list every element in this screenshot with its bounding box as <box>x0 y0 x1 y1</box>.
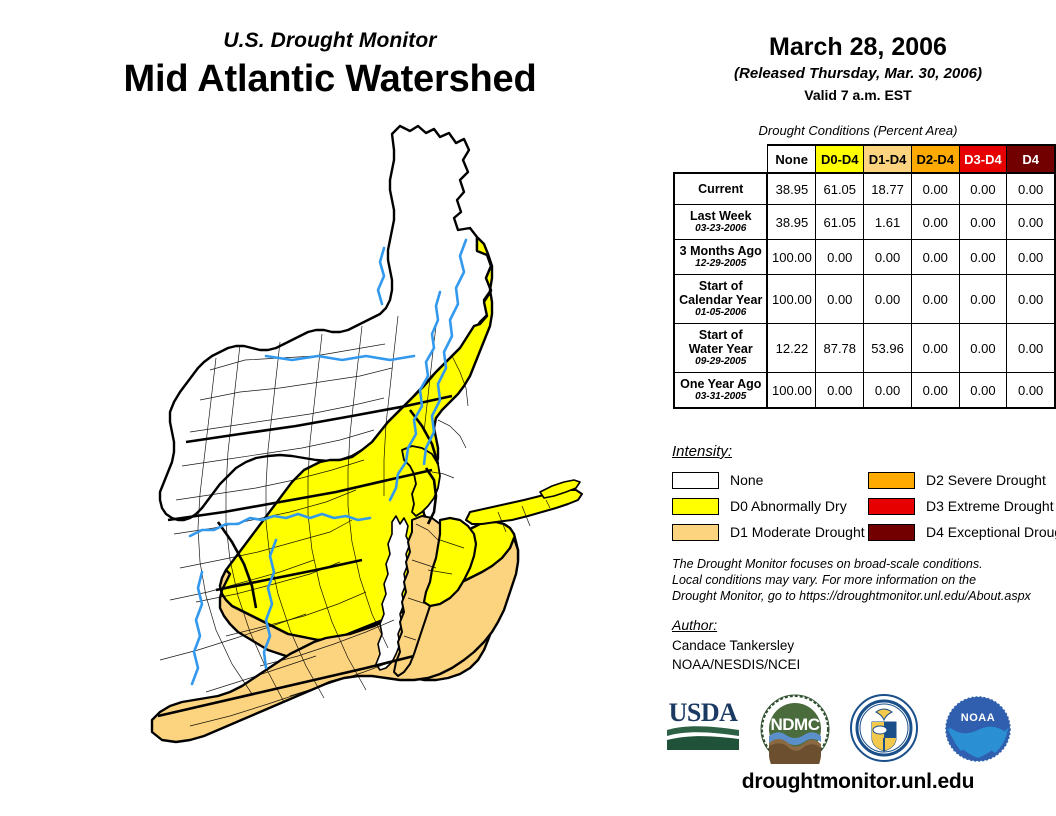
drought-map[interactable] <box>40 120 660 800</box>
row-label-date: 03-31-2005 <box>677 391 764 403</box>
page-title: Mid Atlantic Watershed <box>0 56 660 102</box>
table-cell: 18.77 <box>864 173 912 205</box>
row-label-date: 12-29-2005 <box>677 258 764 270</box>
legend-swatch <box>672 498 719 515</box>
table-row: Start ofWater Year09-29-200512.2287.7853… <box>674 324 1055 373</box>
legend-swatch <box>672 472 719 489</box>
row-label-date: 01-05-2006 <box>677 307 764 319</box>
noaa-logo: NOAA <box>943 694 1013 764</box>
table-cell: 0.00 <box>1007 173 1055 205</box>
row-label-line: Water Year <box>677 342 764 356</box>
table-cell: 0.00 <box>864 240 912 275</box>
table-cell: 0.00 <box>959 173 1007 205</box>
table-cell: 0.00 <box>1007 373 1055 409</box>
row-label-line: Start of <box>677 279 764 293</box>
logo-row: USDA NDMC NOAA <box>665 694 1055 766</box>
intensity-legend-left: NoneD0 Abnormally DryD1 Moderate Drought <box>672 468 865 546</box>
row-label-date: 09-29-2005 <box>677 356 764 368</box>
row-label-line: Calendar Year <box>677 293 764 307</box>
table-cell: 0.00 <box>911 173 959 205</box>
legend-item: None <box>672 468 865 492</box>
valid-time: Valid 7 a.m. EST <box>660 85 1056 105</box>
legend-swatch <box>868 472 915 489</box>
valid-date: March 28, 2006 <box>660 32 1056 62</box>
table-cell: 0.00 <box>911 240 959 275</box>
table-cell: 61.05 <box>816 173 864 205</box>
table-col-header-none: None <box>767 145 815 173</box>
legend-label: D4 Exceptional Drought <box>926 524 1056 540</box>
table-row: Current38.9561.0518.770.000.000.00 <box>674 173 1055 205</box>
table-cell: 0.00 <box>911 373 959 409</box>
table-cell: 100.00 <box>767 373 815 409</box>
author-block: Candace Tankersley NOAA/NESDIS/NCEI <box>672 636 800 674</box>
legend-label: None <box>730 472 763 488</box>
table-cell: 0.00 <box>1007 205 1055 240</box>
svg-text:NDMC: NDMC <box>771 715 820 734</box>
row-label-line: 3 Months Ago <box>677 244 764 258</box>
doc-logo <box>850 694 918 762</box>
table-cell: 0.00 <box>911 324 959 373</box>
table-row-label: Start ofCalendar Year01-05-2006 <box>674 275 767 324</box>
legend-item: D2 Severe Drought <box>868 468 1056 492</box>
legend-label: D3 Extreme Drought <box>926 498 1054 514</box>
legend-item: D4 Exceptional Drought <box>868 520 1056 544</box>
table-col-header-d1-d4: D1-D4 <box>864 145 912 173</box>
table-row: Start ofCalendar Year01-05-2006100.000.0… <box>674 275 1055 324</box>
legend-label: D1 Moderate Drought <box>730 524 865 540</box>
table-row: 3 Months Ago12-29-2005100.000.000.000.00… <box>674 240 1055 275</box>
row-label-line: One Year Ago <box>677 377 764 391</box>
disclaimer-line: The Drought Monitor focuses on broad-sca… <box>672 556 1052 572</box>
table-col-header-d0-d4: D0-D4 <box>816 145 864 173</box>
table-header-row: NoneD0-D4D1-D4D2-D4D3-D4D4 <box>674 145 1055 173</box>
disclaimer-text: The Drought Monitor focuses on broad-sca… <box>672 556 1052 604</box>
intensity-legend-title: Intensity: <box>672 443 732 460</box>
legend-item: D0 Abnormally Dry <box>672 494 865 518</box>
table-cell: 0.00 <box>1007 275 1055 324</box>
table-cell: 53.96 <box>864 324 912 373</box>
table-row-label: Start ofWater Year09-29-2005 <box>674 324 767 373</box>
usda-logo: USDA <box>665 694 741 752</box>
table-cell: 0.00 <box>959 240 1007 275</box>
legend-item: D3 Extreme Drought <box>868 494 1056 518</box>
ndmc-logo: NDMC <box>760 694 830 764</box>
intensity-legend-right: D2 Severe DroughtD3 Extreme DroughtD4 Ex… <box>868 468 1056 546</box>
table-cell: 87.78 <box>816 324 864 373</box>
table-cell: 0.00 <box>816 373 864 409</box>
disclaimer-line: Drought Monitor, go to https://droughtmo… <box>672 588 1052 604</box>
table-cell: 0.00 <box>959 324 1007 373</box>
legend-item: D1 Moderate Drought <box>672 520 865 544</box>
row-label-line: Last Week <box>677 209 764 223</box>
row-label-line: Start of <box>677 328 764 342</box>
row-label-line: Current <box>677 182 764 196</box>
table-cell: 0.00 <box>1007 324 1055 373</box>
legend-label: D0 Abnormally Dry <box>730 498 847 514</box>
table-row: Last Week03-23-200638.9561.051.610.000.0… <box>674 205 1055 240</box>
table-row-label: Last Week03-23-2006 <box>674 205 767 240</box>
table-cell: 0.00 <box>959 373 1007 409</box>
table-cell: 1.61 <box>864 205 912 240</box>
table-cell: 0.00 <box>816 275 864 324</box>
table-cell: 61.05 <box>816 205 864 240</box>
table-row-label: 3 Months Ago12-29-2005 <box>674 240 767 275</box>
drought-conditions-table: NoneD0-D4D1-D4D2-D4D3-D4D4 Current38.956… <box>673 144 1056 409</box>
table-col-header-d3-d4: D3-D4 <box>959 145 1007 173</box>
table-cell: 0.00 <box>911 205 959 240</box>
author-label: Author: <box>672 617 717 633</box>
table-row-label: Current <box>674 173 767 205</box>
release-date: (Released Thursday, Mar. 30, 2006) <box>660 63 1056 84</box>
site-url: droughtmonitor.unl.edu <box>660 770 1056 794</box>
table-cell: 0.00 <box>864 275 912 324</box>
date-block: March 28, 2006 (Released Thursday, Mar. … <box>660 32 1056 105</box>
table-cell: 38.95 <box>767 173 815 205</box>
table-cell: 0.00 <box>959 275 1007 324</box>
table-col-header-d4: D4 <box>1007 145 1055 173</box>
svg-text:USDA: USDA <box>669 698 739 727</box>
program-title: U.S. Drought Monitor <box>0 28 660 54</box>
drought-map-svg[interactable] <box>40 120 660 800</box>
legend-swatch <box>868 524 915 541</box>
table-cell: 0.00 <box>1007 240 1055 275</box>
author-affiliation: NOAA/NESDIS/NCEI <box>672 655 800 674</box>
row-label-date: 03-23-2006 <box>677 223 764 235</box>
legend-swatch <box>868 498 915 515</box>
table-cell: 12.22 <box>767 324 815 373</box>
table-col-header-d2-d4: D2-D4 <box>911 145 959 173</box>
svg-text:NOAA: NOAA <box>961 712 995 724</box>
table-caption: Drought Conditions (Percent Area) <box>660 123 1056 138</box>
table-body: Current38.9561.0518.770.000.000.00Last W… <box>674 173 1055 408</box>
table-row-label: One Year Ago03-31-2005 <box>674 373 767 409</box>
disclaimer-line: Local conditions may vary. For more info… <box>672 572 1052 588</box>
table-cell: 0.00 <box>816 240 864 275</box>
table-cell: 0.00 <box>864 373 912 409</box>
legend-label: D2 Severe Drought <box>926 472 1046 488</box>
title-block: U.S. Drought Monitor Mid Atlantic Waters… <box>0 28 660 102</box>
table-cell: 0.00 <box>959 205 1007 240</box>
legend-swatch <box>672 524 719 541</box>
table-row: One Year Ago03-31-2005100.000.000.000.00… <box>674 373 1055 409</box>
table-corner-cell <box>674 145 767 173</box>
table-cell: 100.00 <box>767 240 815 275</box>
table-cell: 38.95 <box>767 205 815 240</box>
table-cell: 0.00 <box>911 275 959 324</box>
author-name: Candace Tankersley <box>672 636 800 655</box>
table-header: NoneD0-D4D1-D4D2-D4D3-D4D4 <box>674 145 1055 173</box>
table-cell: 100.00 <box>767 275 815 324</box>
